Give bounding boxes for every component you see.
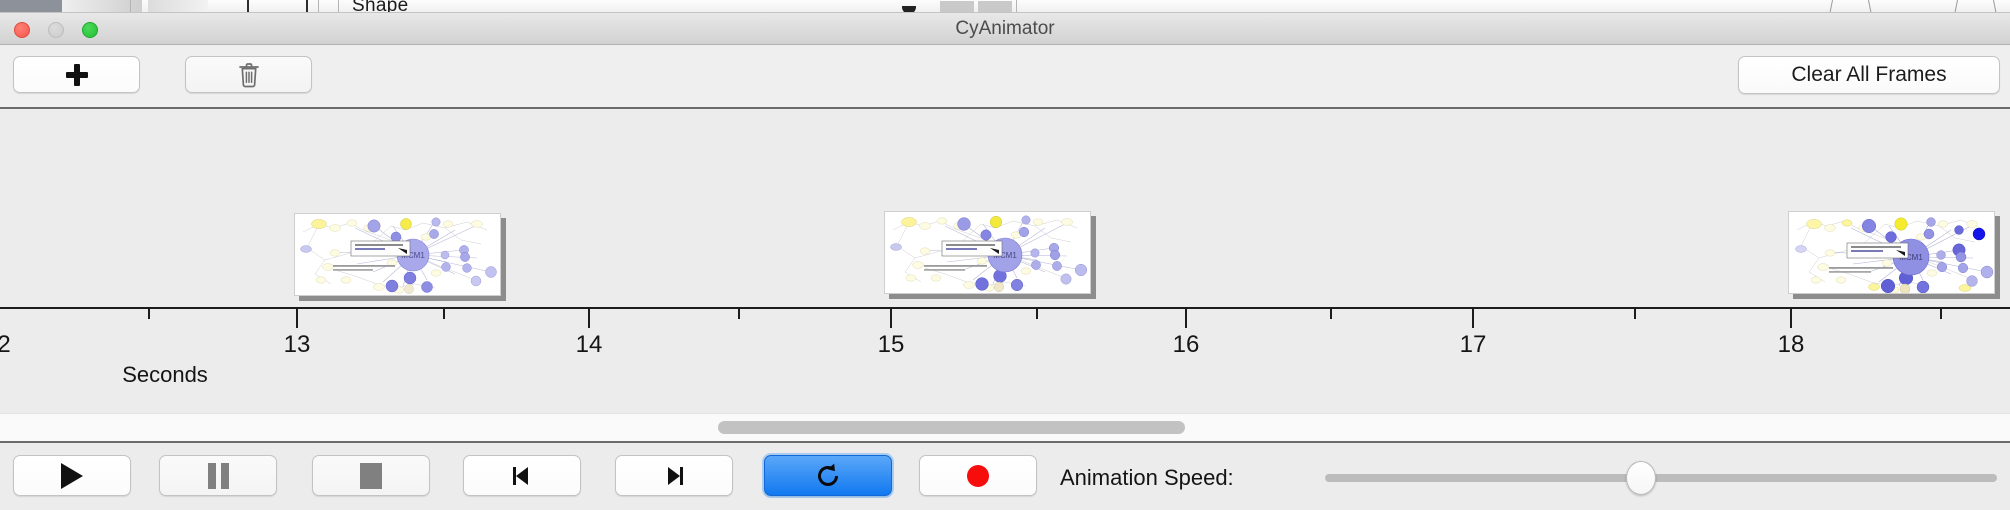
background-window-strip: Shape (0, 0, 2010, 13)
axis-major-tick (1790, 309, 1792, 328)
skip-to-start-button[interactable] (463, 455, 581, 496)
axis-major-tick (1472, 309, 1474, 328)
axis-minor-tick (1330, 309, 1332, 319)
network-thumbnail: MCM1 (1788, 211, 1995, 294)
axis-tick-label: 18 (1778, 331, 1805, 359)
cyanimator-window: Shape CyAnimator Clear All Frames (0, 0, 2010, 510)
loop-icon (814, 462, 842, 490)
axis-tick-label: 14 (576, 331, 603, 359)
axis-major-tick (890, 309, 892, 328)
network-thumbnail: MCM1 (294, 213, 501, 296)
timeline-axis (0, 307, 2010, 309)
axis-tick-label: 2 (0, 331, 11, 359)
axis-minor-tick (443, 309, 445, 319)
record-icon (965, 463, 991, 489)
axis-minor-tick (738, 309, 740, 319)
loop-button[interactable] (764, 455, 892, 496)
timeline-frame-thumbnail[interactable]: MCM1 (884, 211, 1096, 299)
slider-thumb[interactable] (1626, 461, 1656, 495)
delete-frame-button[interactable] (185, 56, 312, 93)
clear-all-frames-button[interactable]: Clear All Frames (1738, 56, 2000, 94)
animation-speed-label: Animation Speed: (1060, 465, 1234, 491)
trash-icon (238, 62, 260, 88)
play-icon (61, 463, 83, 489)
skip-forward-icon (661, 463, 687, 489)
axis-minor-tick (1940, 309, 1942, 319)
axis-minor-tick (1036, 309, 1038, 319)
background-slash (1993, 0, 1996, 13)
background-slash (1868, 0, 1871, 13)
axis-major-tick (1185, 309, 1187, 328)
network-graph: MCM1 (1789, 212, 1995, 294)
axis-major-tick (588, 309, 590, 328)
page-title: CyAnimator (0, 13, 2010, 45)
stop-icon (360, 463, 382, 489)
record-button[interactable] (919, 455, 1037, 496)
network-thumbnail: MCM1 (884, 211, 1091, 294)
timeline-frame-thumbnail[interactable]: MCM1 (1788, 211, 2000, 299)
pause-icon (208, 463, 229, 489)
axis-major-tick (296, 309, 298, 328)
animation-speed-slider[interactable] (1325, 474, 1997, 482)
play-button[interactable] (13, 455, 131, 496)
axis-minor-tick (1634, 309, 1636, 319)
background-slash (1830, 0, 1833, 13)
title-bar: CyAnimator (0, 13, 2010, 45)
scrollbar-thumb[interactable] (718, 421, 1185, 434)
axis-tick-label: 17 (1460, 331, 1487, 359)
axis-title: Seconds (0, 362, 2010, 388)
timeline-scrollbar[interactable] (0, 413, 2010, 441)
background-slash (1955, 0, 1958, 13)
axis-tick-label: 15 (878, 331, 905, 359)
network-graph: MCM1 (885, 212, 1091, 294)
playback-toolbar: Animation Speed: (0, 441, 2010, 510)
axis-tick-label: 13 (284, 331, 311, 359)
plus-icon (66, 64, 88, 86)
axis-title-text: Seconds (122, 362, 208, 387)
slider-track[interactable] (1325, 474, 1997, 482)
axis-minor-tick (148, 309, 150, 319)
skip-to-end-button[interactable] (615, 455, 733, 496)
skip-back-icon (509, 463, 535, 489)
timeline-frame-thumbnail[interactable]: MCM1 (294, 213, 506, 301)
network-graph: MCM1 (295, 214, 501, 296)
stop-button[interactable] (312, 455, 430, 496)
timeline-panel[interactable]: MCM1 (0, 109, 2010, 413)
add-frame-button[interactable] (13, 56, 140, 93)
axis-tick-label: 16 (1173, 331, 1200, 359)
pause-button[interactable] (159, 455, 277, 496)
